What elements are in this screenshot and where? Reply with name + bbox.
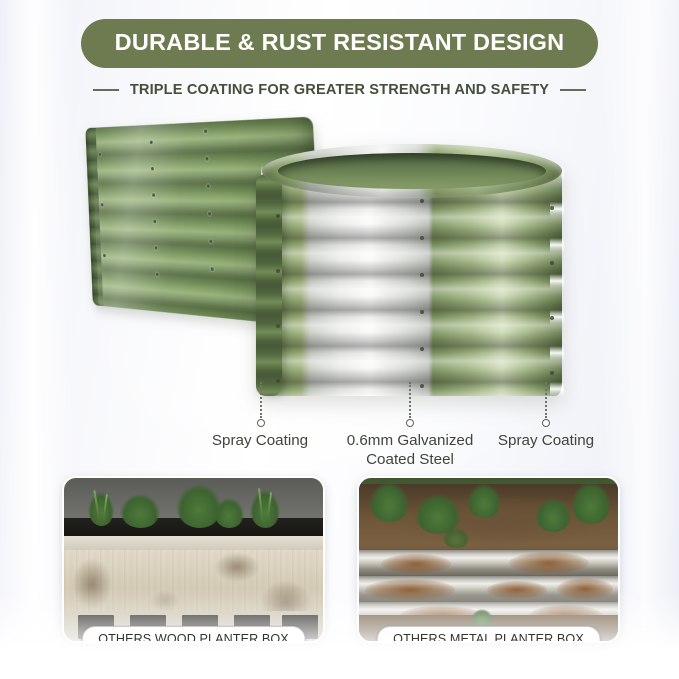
cylinder-top-rim [262, 144, 562, 198]
dash-left-icon [93, 89, 119, 91]
leader-line-spray-coating-left [260, 382, 261, 418]
callout-group: Spray Coating 0.6mm Galvanized Coated St… [0, 382, 679, 472]
leader-dot-icon [542, 419, 550, 427]
metal-planter-photo [359, 478, 618, 641]
page-title: DURABLE & RUST RESISTANT DESIGN [81, 19, 599, 68]
cylinder-seam-panel [256, 174, 282, 396]
photo-card-wood-planter: OTHERS WOOD PLANTER BOX [62, 476, 325, 643]
subtitle-row: TRIPLE COATING FOR GREATER STRENGTH AND … [0, 82, 679, 98]
round-planter-body [262, 144, 562, 396]
comparison-section: OTHERS WOOD PLANTER BOX [0, 476, 679, 656]
photo-card-metal-planter: OTHERS METAL PLANTER BOX [357, 476, 620, 643]
header: DURABLE & RUST RESISTANT DESIGN TRIPLE C… [0, 0, 679, 98]
caption-metal-planter: OTHERS METAL PLANTER BOX [376, 626, 601, 643]
page-subtitle: TRIPLE COATING FOR GREATER STRENGTH AND … [130, 82, 549, 98]
leader-dot-icon [257, 419, 265, 427]
callout-label-0: Spray Coating [180, 432, 340, 451]
leader-line-spray-coating-right [545, 382, 546, 418]
leader-dot-icon [406, 419, 414, 427]
cylinder-rim-interior [278, 153, 546, 189]
infographic-page: DURABLE & RUST RESISTANT DESIGN TRIPLE C… [0, 0, 679, 679]
dash-right-icon [560, 89, 586, 91]
wood-planter-photo [64, 478, 323, 641]
callout-label-2: Spray Coating [466, 432, 626, 451]
leader-line-galvanized-steel [409, 382, 410, 418]
caption-wood-planter: OTHERS WOOD PLANTER BOX [81, 626, 306, 643]
cylinder-corrugated-surface [262, 166, 562, 396]
product-illustration [0, 104, 679, 414]
